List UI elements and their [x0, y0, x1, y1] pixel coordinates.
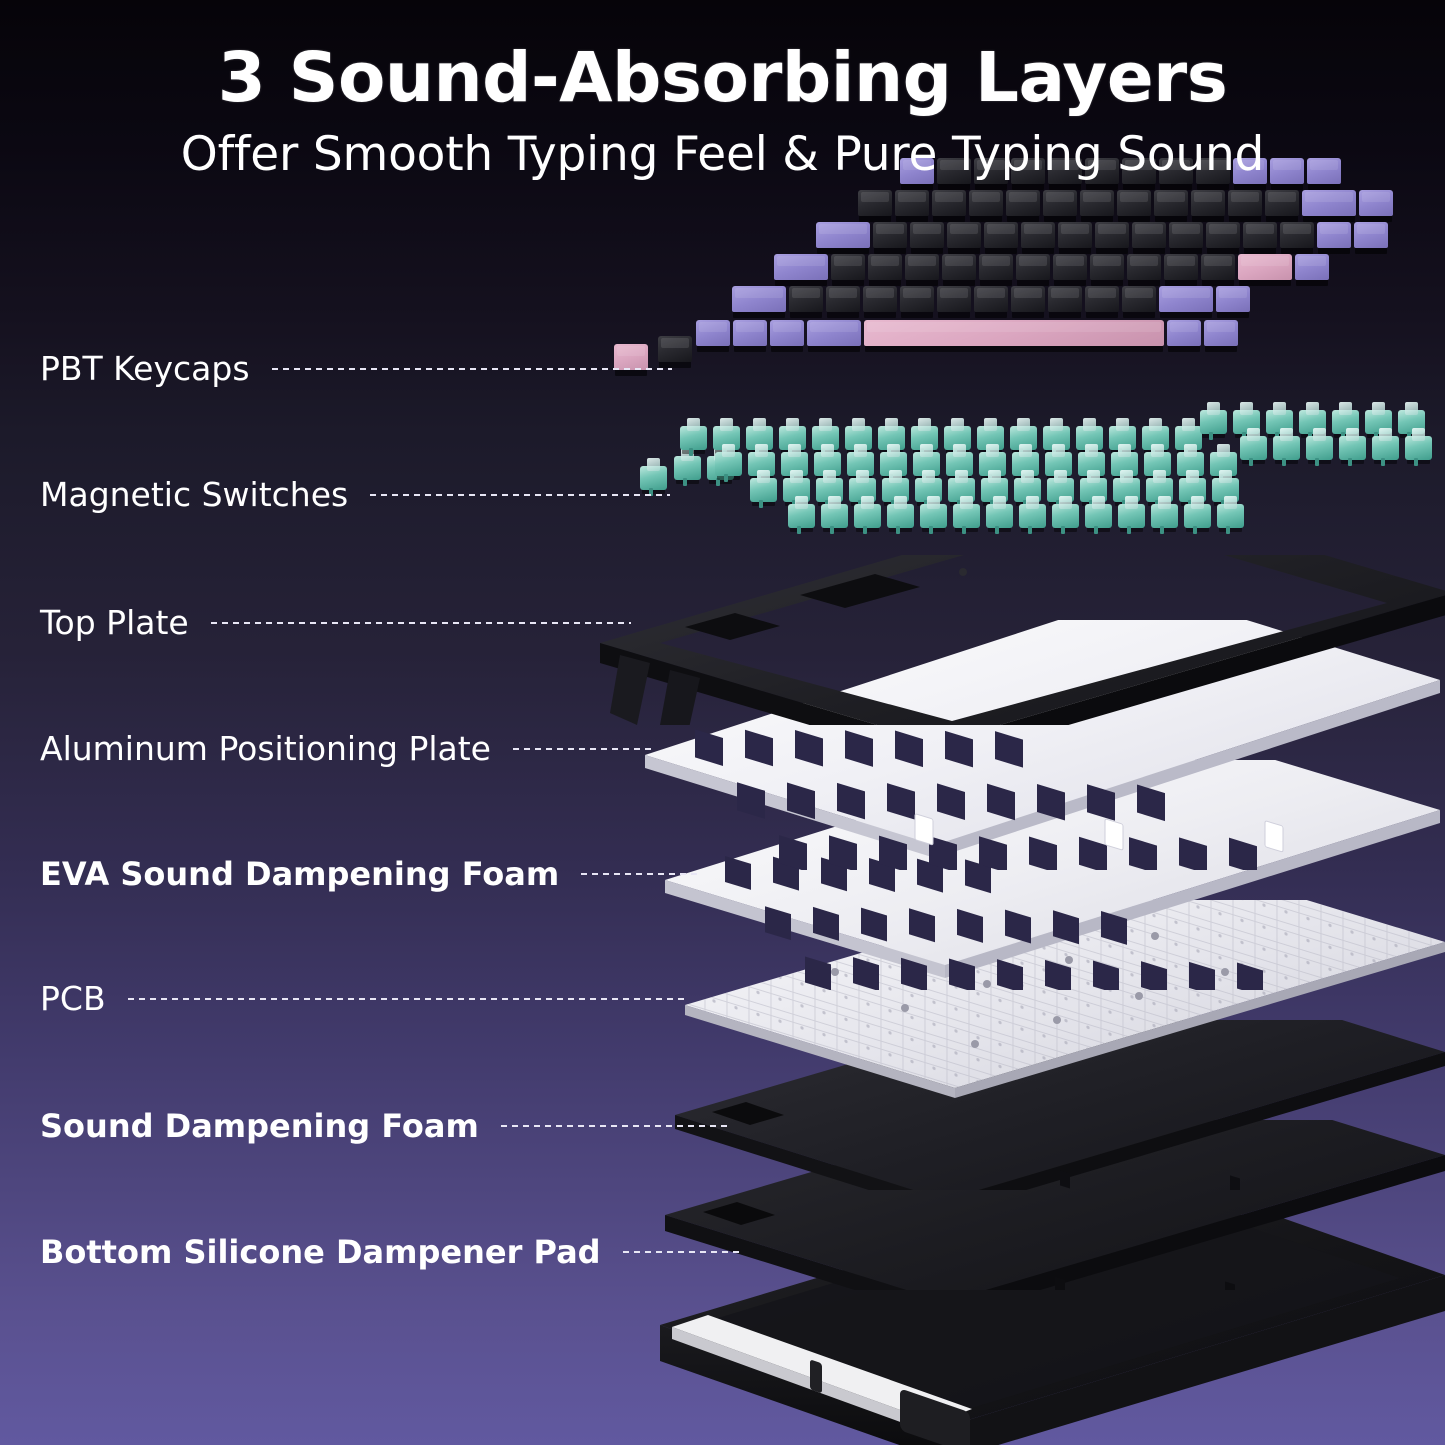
leader-line — [128, 998, 688, 1000]
leader-line — [370, 494, 670, 496]
callout-row: Bottom Silicone Dampener Pad — [40, 1236, 743, 1268]
infographic-canvas: 3 Sound-Absorbing Layers Offer Smooth Ty… — [0, 0, 1445, 1445]
leader-line — [513, 748, 653, 750]
callout-label: Magnetic Switches — [40, 478, 348, 511]
leader-line — [581, 873, 701, 875]
callout-row: PCB — [40, 982, 688, 1015]
callout-row: EVA Sound Dampening Foam — [40, 858, 701, 890]
callout-row: Sound Dampening Foam — [40, 1110, 731, 1142]
header-block: 3 Sound-Absorbing Layers Offer Smooth Ty… — [0, 44, 1445, 178]
callout-row: Aluminum Positioning Plate — [40, 732, 653, 765]
leader-line — [623, 1251, 743, 1253]
leader-line — [501, 1125, 731, 1127]
callout-row: Magnetic Switches — [40, 478, 670, 511]
leader-line — [211, 622, 631, 624]
callout-label: PCB — [40, 982, 106, 1015]
callout-label: Bottom Silicone Dampener Pad — [40, 1236, 601, 1268]
callout-label: EVA Sound Dampening Foam — [40, 858, 559, 890]
callout-label: Aluminum Positioning Plate — [40, 732, 491, 765]
callout-label: Sound Dampening Foam — [40, 1110, 479, 1142]
callout-label: PBT Keycaps — [40, 352, 250, 385]
page-title: 3 Sound-Absorbing Layers — [0, 44, 1445, 113]
callout-row: PBT Keycaps — [40, 352, 672, 385]
page-subtitle: Offer Smooth Typing Feel & Pure Typing S… — [0, 131, 1445, 178]
callout-row: Top Plate — [40, 606, 631, 639]
leader-line — [272, 368, 672, 370]
pbt-keycaps-layer — [600, 150, 1445, 480]
callout-label: Top Plate — [40, 606, 189, 639]
exploded-keyboard-illustration — [0, 0, 1445, 1445]
